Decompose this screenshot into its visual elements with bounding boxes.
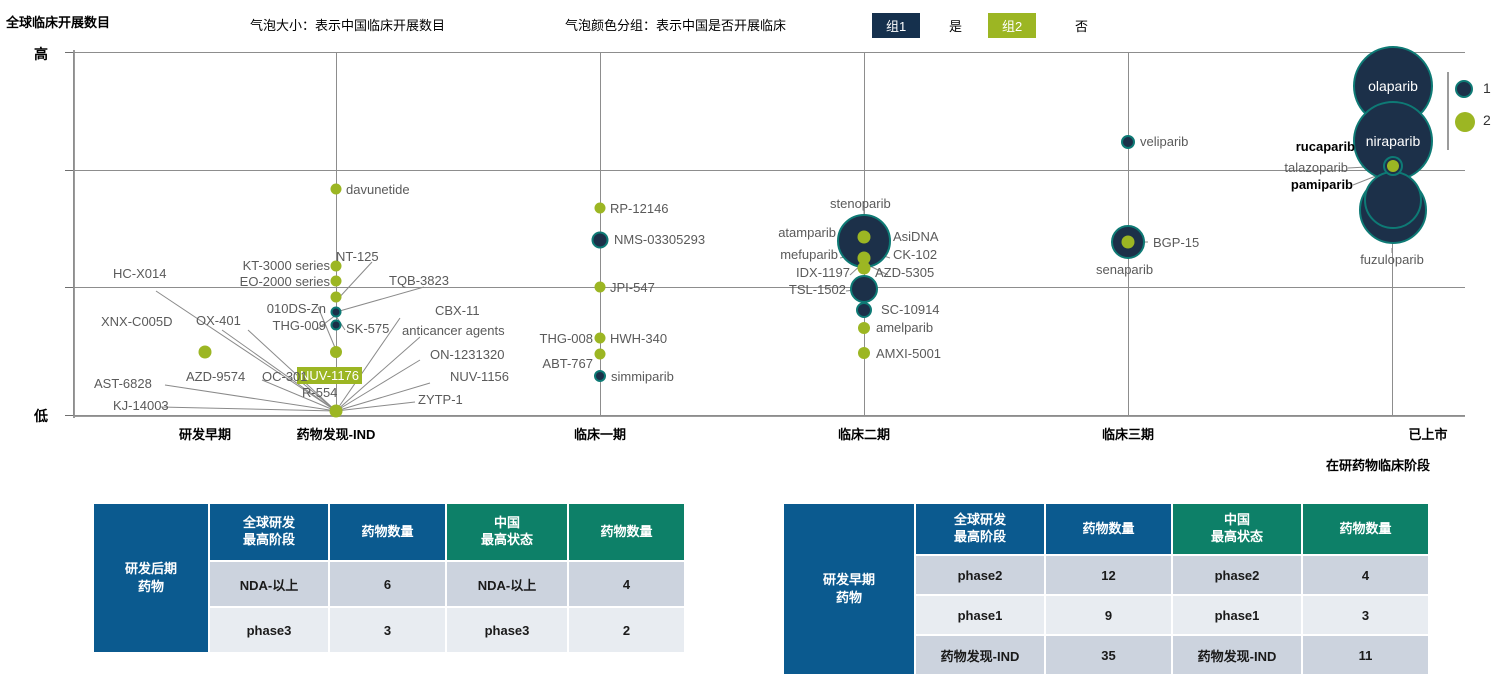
cell-r-r1-c1: 9 bbox=[1046, 596, 1171, 634]
bubble-label-olaparib: olaparib bbox=[1368, 78, 1418, 94]
bubble-tsl-1502[interactable] bbox=[850, 275, 878, 303]
x-tick-phase3: 临床三期 bbox=[1102, 424, 1154, 443]
label-kt3000: KT-3000 series bbox=[243, 258, 330, 273]
label-hwh-340: HWH-340 bbox=[610, 331, 667, 346]
label-zytp-1: ZYTP-1 bbox=[418, 392, 463, 407]
y-axis-title-header: 全球临床开展数目 bbox=[6, 12, 110, 31]
label-thg-009: THG-009 bbox=[273, 318, 326, 333]
label-kj-14003: KJ-14003 bbox=[113, 398, 169, 413]
label-bgp-15: BGP-15 bbox=[1153, 235, 1199, 250]
cell-l-r0-c3: 4 bbox=[569, 562, 684, 606]
x-tick-marketed: 已上市 bbox=[1408, 424, 1447, 443]
bubble-idx-1197[interactable] bbox=[858, 262, 871, 275]
label-amxi-5001: AMXI-5001 bbox=[876, 346, 941, 361]
y-tick-mark-2 bbox=[65, 287, 73, 288]
label-eo2000: EO-2000 series bbox=[240, 274, 330, 289]
table-right-row-header: 研发早期 药物 bbox=[784, 504, 914, 674]
label-rucaparib: rucaparib bbox=[1296, 139, 1355, 154]
label-talazoparib: talazoparib bbox=[1284, 160, 1348, 175]
legend-chip-group1[interactable]: 组1 bbox=[872, 13, 920, 38]
hdr-l3-l1: 药物数量 bbox=[569, 524, 684, 541]
label-ck-102: CK-102 bbox=[893, 247, 937, 262]
bubble-amelparib[interactable] bbox=[858, 322, 870, 334]
hdr-r0-l1: 全球研发 bbox=[916, 512, 1044, 529]
label-senaparib: senaparib bbox=[1096, 262, 1153, 277]
hdr-l0-l2: 最高阶段 bbox=[210, 532, 328, 549]
bubble-asidna[interactable] bbox=[858, 231, 871, 244]
cell-r-r0-c1: 12 bbox=[1046, 556, 1171, 594]
x-tick-phase1: 临床一期 bbox=[574, 424, 626, 443]
bubble-bgp-15[interactable] bbox=[1122, 236, 1135, 249]
table-right-row-header-line2: 药物 bbox=[784, 589, 914, 607]
cell-r-r2-c3: 11 bbox=[1303, 636, 1428, 674]
bubble-hwh-340[interactable] bbox=[595, 333, 606, 344]
label-amelparib: amelparib bbox=[876, 320, 933, 335]
label-idx-1197: IDX-1197 bbox=[796, 265, 850, 280]
label-r-554: R-554 bbox=[302, 385, 337, 400]
bubble-sk-575[interactable] bbox=[330, 346, 342, 358]
size-legend-dot-1 bbox=[1455, 80, 1473, 98]
legend-label-group1: 是 bbox=[949, 16, 962, 35]
y-tick-low: 低 bbox=[34, 406, 48, 426]
gridline-bottom bbox=[73, 415, 1465, 416]
bubble-abt-767[interactable] bbox=[595, 349, 606, 360]
bubble-jpi-547[interactable] bbox=[595, 282, 606, 293]
cell-l-r0-c2: NDA-以上 bbox=[447, 562, 567, 606]
table-early-stage: 研发早期 药物 全球研发 最高阶段 药物数量 中国 最高状态 药物数量 phas… bbox=[782, 502, 1430, 676]
label-tsl-1502: TSL-1502 bbox=[789, 282, 846, 297]
table-left-col-header-3: 药物数量 bbox=[569, 504, 684, 560]
label-asidna: AsiDNA bbox=[893, 229, 939, 244]
bubble-size-note: 气泡大小：表示中国临床开展数目 bbox=[250, 15, 445, 34]
bubble-xnx-c005d[interactable] bbox=[199, 346, 212, 359]
cell-l-r0-c1: 6 bbox=[330, 562, 445, 606]
table-right-col-header-3: 药物数量 bbox=[1303, 504, 1428, 554]
label-tqb-3823: TQB-3823 bbox=[389, 273, 449, 288]
bubble-veliparib[interactable] bbox=[1121, 135, 1135, 149]
table-left-col-header-2: 中国 最高状态 bbox=[447, 504, 567, 560]
table-right-row-header-line1: 研发早期 bbox=[784, 571, 914, 589]
plot-area bbox=[73, 52, 1465, 416]
size-legend-dot-2 bbox=[1455, 112, 1475, 132]
x-tick-early: 研发早期 bbox=[179, 424, 231, 443]
cell-r-r1-c3: 3 bbox=[1303, 596, 1428, 634]
bubble-010ds-zn[interactable] bbox=[331, 292, 342, 303]
label-nt-125: NT-125 bbox=[336, 249, 379, 264]
label-ox-401: OX-401 bbox=[196, 313, 241, 328]
table-header-row: 研发早期 药物 全球研发 最高阶段 药物数量 中国 最高状态 药物数量 bbox=[784, 504, 1428, 554]
bubble-talazoparib[interactable] bbox=[1387, 160, 1399, 172]
label-rp-12146: RP-12146 bbox=[610, 201, 669, 216]
cell-l-r0-c0: NDA-以上 bbox=[210, 562, 328, 606]
label-anticancer-agents: anticancer agents bbox=[402, 323, 505, 338]
bubble-pamiparib[interactable] bbox=[1364, 171, 1422, 229]
label-davunetide: davunetide bbox=[346, 182, 410, 197]
cell-r-r2-c2: 药物发现-IND bbox=[1173, 636, 1301, 674]
size-legend-label-2: 2 bbox=[1483, 112, 1491, 128]
label-abt-767: ABT-767 bbox=[542, 356, 593, 371]
label-oc-301: OC-301 bbox=[262, 369, 308, 384]
bubble-nt-125[interactable] bbox=[331, 307, 342, 318]
x-tick-phase2: 临床二期 bbox=[838, 424, 890, 443]
label-on-1231320: ON-1231320 bbox=[430, 347, 504, 362]
label-thg-008: THG-008 bbox=[540, 331, 593, 346]
bubble-rp-12146[interactable] bbox=[595, 203, 606, 214]
label-010ds-zn: 010DS-Zn bbox=[267, 301, 326, 316]
table-late-stage: 研发后期 药物 全球研发 最高阶段 药物数量 中国 最高状态 药物数量 NDA-… bbox=[92, 502, 686, 654]
table-header-row: 研发后期 药物 全球研发 最高阶段 药物数量 中国 最高状态 药物数量 bbox=[94, 504, 684, 560]
hdr-l1-l1: 药物数量 bbox=[330, 524, 445, 541]
y-tick-high: 高 bbox=[34, 44, 48, 64]
label-mefuparib: mefuparib bbox=[780, 247, 838, 262]
label-veliparib: veliparib bbox=[1140, 134, 1188, 149]
label-nuv-1156: NUV-1156 bbox=[450, 369, 509, 384]
y-tick-mark-bot bbox=[65, 415, 73, 416]
label-hc-x014: HC-X014 bbox=[113, 266, 166, 281]
y-tick-mark-top bbox=[65, 52, 73, 53]
x-tick-ind: 药物发现-IND bbox=[297, 424, 376, 443]
label-ast-6828: AST-6828 bbox=[94, 376, 152, 391]
label-azd-5305: AZD-5305 bbox=[875, 265, 934, 280]
table-left-row-header: 研发后期 药物 bbox=[94, 504, 208, 652]
cell-r-r2-c0: 药物发现-IND bbox=[916, 636, 1044, 674]
cell-l-r1-c2: phase3 bbox=[447, 608, 567, 652]
cell-r-r1-c2: phase1 bbox=[1173, 596, 1301, 634]
label-stenoparib: stenoparib bbox=[830, 196, 891, 211]
hdr-r0-l2: 最高阶段 bbox=[916, 529, 1044, 546]
cell-r-r0-c0: phase2 bbox=[916, 556, 1044, 594]
label-cbx-11: CBX-11 bbox=[435, 303, 480, 318]
table-right-col-header-0: 全球研发 最高阶段 bbox=[916, 504, 1044, 554]
hdr-l2-l1: 中国 bbox=[447, 515, 567, 532]
bubble-nms-03305293[interactable] bbox=[592, 232, 609, 249]
table-left-row-header-line2: 药物 bbox=[94, 578, 208, 596]
cell-r-r0-c3: 4 bbox=[1303, 556, 1428, 594]
label-jpi-547: JPI-547 bbox=[610, 280, 655, 295]
cell-r-r0-c2: phase2 bbox=[1173, 556, 1301, 594]
bubble-amxi-5001[interactable] bbox=[858, 347, 870, 359]
hdr-l2-l2: 最高状态 bbox=[447, 532, 567, 549]
cell-r-r1-c0: phase1 bbox=[916, 596, 1044, 634]
bubble-ind-cluster[interactable] bbox=[330, 405, 343, 418]
hdr-r3-l1: 药物数量 bbox=[1303, 521, 1428, 538]
hdr-r2-l2: 最高状态 bbox=[1173, 529, 1301, 546]
label-nms-03305293: NMS-03305293 bbox=[614, 232, 705, 247]
label-sk-575: SK-575 bbox=[346, 321, 389, 336]
label-fuzuloparib: fuzuloparib bbox=[1360, 252, 1424, 267]
table-right-col-header-1: 药物数量 bbox=[1046, 504, 1171, 554]
table-left-row-header-line1: 研发后期 bbox=[94, 560, 208, 578]
gridline-v-early bbox=[73, 52, 74, 416]
hdr-r1-l1: 药物数量 bbox=[1046, 521, 1171, 538]
bubble-thg-009[interactable] bbox=[331, 320, 342, 331]
label-sc-10914: SC-10914 bbox=[881, 302, 940, 317]
hdr-r2-l1: 中国 bbox=[1173, 512, 1301, 529]
table-left-col-header-0: 全球研发 最高阶段 bbox=[210, 504, 328, 560]
legend-chip-group2[interactable]: 组2 bbox=[988, 13, 1036, 38]
hdr-l0-l1: 全球研发 bbox=[210, 515, 328, 532]
label-atamparib: atamparib bbox=[778, 225, 836, 240]
size-legend-divider bbox=[1447, 72, 1449, 150]
bubble-label-niraparib: niraparib bbox=[1366, 133, 1420, 149]
cell-r-r2-c1: 35 bbox=[1046, 636, 1171, 674]
cell-l-r1-c3: 2 bbox=[569, 608, 684, 652]
size-legend-label-1: 1 bbox=[1483, 80, 1491, 96]
y-tick-mark-1 bbox=[65, 170, 73, 171]
legend-label-group2: 否 bbox=[1075, 16, 1088, 35]
x-axis-title: 在研药物临床阶段 bbox=[1326, 455, 1430, 474]
cell-l-r1-c1: 3 bbox=[330, 608, 445, 652]
bubble-sc-10914[interactable] bbox=[856, 302, 872, 318]
label-xnx-c005d: XNX-C005D bbox=[101, 314, 173, 329]
gridline-mid-1 bbox=[73, 170, 1465, 171]
label-azd-9574: AZD-9574 bbox=[186, 369, 245, 384]
label-simmiparib: simmiparib bbox=[611, 369, 674, 384]
gridline-top bbox=[73, 52, 1465, 53]
bubble-eo2000[interactable] bbox=[331, 276, 342, 287]
bubble-color-note: 气泡颜色分组：表示中国是否开展临床 bbox=[565, 15, 786, 34]
cell-l-r1-c0: phase3 bbox=[210, 608, 328, 652]
label-pamiparib: pamiparib bbox=[1291, 177, 1353, 192]
table-right-col-header-2: 中国 最高状态 bbox=[1173, 504, 1301, 554]
bubble-davunetide[interactable] bbox=[331, 184, 342, 195]
gridline-v-ind bbox=[336, 52, 337, 416]
table-left-col-header-1: 药物数量 bbox=[330, 504, 445, 560]
bubble-simmiparib[interactable] bbox=[594, 370, 606, 382]
